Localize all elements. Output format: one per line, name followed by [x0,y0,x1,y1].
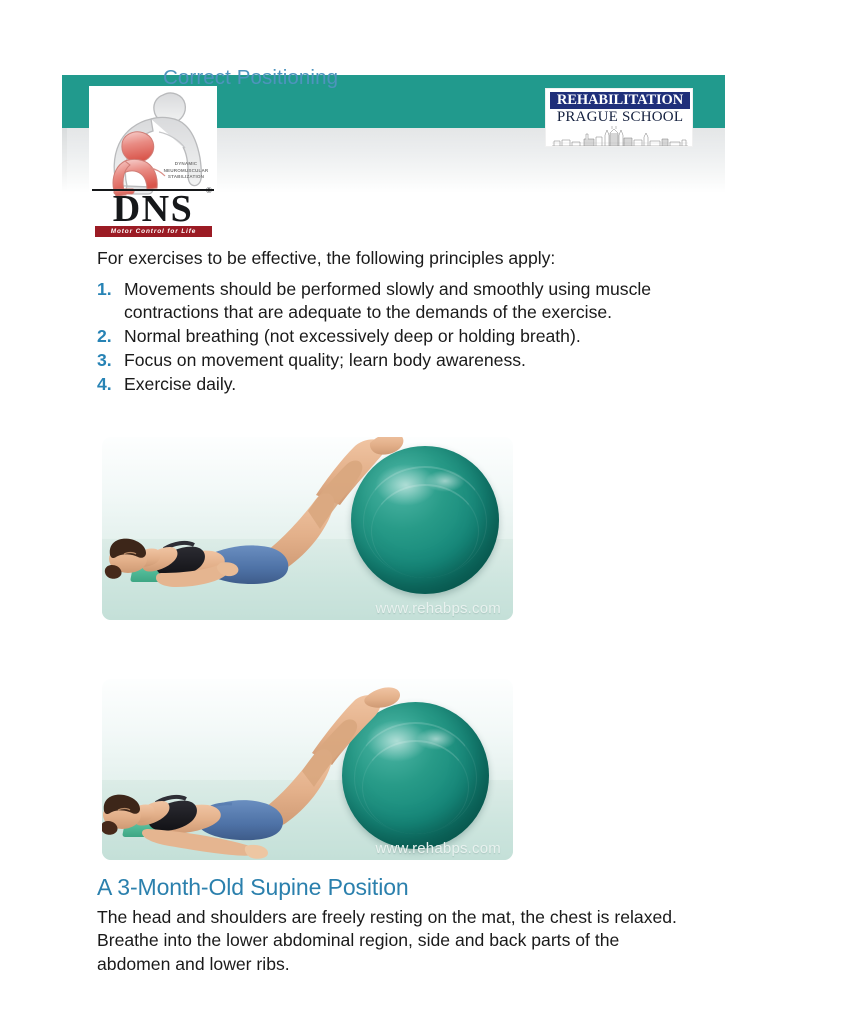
list-item-number: 3. [97,349,124,372]
header-gray-band-edge [62,128,67,193]
list-item-text: Normal breathing (not excessively deep o… [124,325,697,348]
rps-logo-line-2: PRAGUE SCHOOL [550,109,690,126]
dns-logo-caption: DYNAMIC NEUROMUSCULAR STABILIZATION [158,161,214,181]
photo-watermark: www.rehabps.com [375,840,501,857]
intro-paragraph: For exercises to be effective, the follo… [97,247,707,270]
exercise-photo-2: www.rehabps.com [102,679,513,860]
principles-list: 1. Movements should be performed slowly … [97,278,697,397]
dns-caption-line-1: DYNAMIC [175,161,198,166]
list-item-number: 2. [97,325,124,348]
photo-watermark: www.rehabps.com [375,600,501,617]
dns-caption-line-3: STABILIZATION [168,174,204,179]
dns-caption-line-2: NEUROMUSCULAR [164,168,209,173]
rps-logo-line-1: REHABILITATION [550,92,690,109]
page-title: Principles of Correct Activation [163,12,458,37]
list-item-text: Focus on movement quality; learn body aw… [124,349,697,372]
dns-tagline: Motor Control for Life [95,226,212,237]
list-item-text: Movements should be performed slowly and… [124,278,697,324]
person-figure [102,437,513,620]
rehabilitation-prague-school-logo: REHABILITATION PRAGUE SCHOOL [545,88,693,147]
list-item: 1. Movements should be performed slowly … [97,278,697,324]
dns-acronym: DNS [89,190,217,228]
list-item: 2. Normal breathing (not excessively dee… [97,325,697,348]
exercise-photo-1: www.rehabps.com [102,437,513,620]
list-item: 4. Exercise daily. [97,373,697,396]
dns-logo: DYNAMIC NEUROMUSCULAR STABILIZATION DNS … [89,86,217,238]
caption-body: The head and shoulders are freely restin… [97,906,697,976]
dns-registered-mark: ® [206,186,212,195]
list-item-number: 4. [97,373,124,396]
list-item-text: Exercise daily. [124,373,697,396]
prague-skyline-icon [550,126,690,147]
person-figure [102,679,513,860]
caption-heading: A 3-Month-Old Supine Position [97,874,409,901]
list-item-number: 1. [97,278,124,301]
list-item: 3. Focus on movement quality; learn body… [97,349,697,372]
